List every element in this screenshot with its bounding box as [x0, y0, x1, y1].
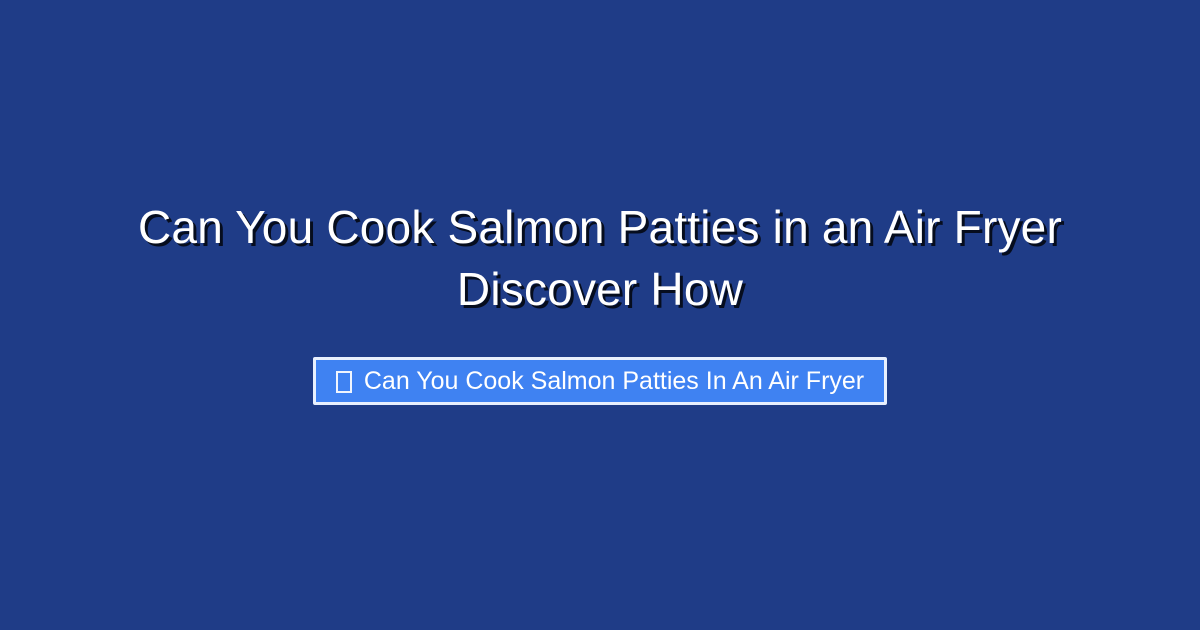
social-share-card: Can You Cook Salmon Patties in an Air Fr… [0, 0, 1200, 630]
missing-glyph-box-icon [336, 371, 352, 393]
cta-button[interactable]: Can You Cook Salmon Patties In An Air Fr… [313, 357, 887, 405]
cta-button-label: Can You Cook Salmon Patties In An Air Fr… [364, 369, 864, 394]
cta-container: Can You Cook Salmon Patties In An Air Fr… [0, 357, 1200, 405]
page-title: Can You Cook Salmon Patties in an Air Fr… [100, 196, 1100, 320]
